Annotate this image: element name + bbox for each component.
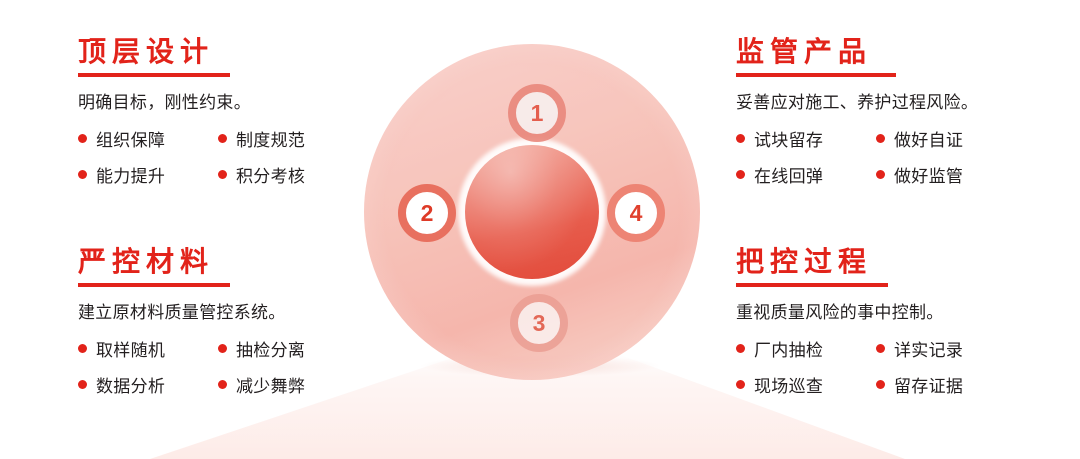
panel-top-right: 监管产品 妥善应对施工、养护过程风险。 试块留存 做好自证 在线回弹 做好监管 [736, 36, 978, 187]
list-item: 数据分析 [78, 372, 218, 397]
bullet-dot-icon [736, 380, 745, 389]
bullet-label: 在线回弹 [754, 162, 823, 187]
bullet-label: 能力提升 [96, 162, 165, 187]
list-item: 厂内抽检 [736, 336, 876, 361]
panel-top-left-underline [78, 73, 230, 77]
panel-bottom-left-bullet-list: 取样随机 抽检分离 数据分析 减少舞弊 [78, 336, 305, 397]
hub-node-4[interactable]: 4 [607, 184, 665, 242]
panel-top-left: 顶层设计 明确目标，刚性约束。 组织保障 制度规范 能力提升 积分考核 [78, 36, 305, 187]
bullet-dot-icon [876, 344, 885, 353]
panel-top-right-underline [736, 73, 896, 77]
panel-bottom-right-bullet-list: 厂内抽检 详实记录 现场巡查 留存证据 [736, 336, 963, 397]
list-item: 留存证据 [876, 372, 963, 397]
list-item: 做好监管 [876, 162, 978, 187]
hub-inner-sphere-gloss [465, 145, 599, 279]
list-item: 组织保障 [78, 126, 218, 151]
bullet-label: 减少舞弊 [236, 372, 305, 397]
list-item: 现场巡查 [736, 372, 876, 397]
bullet-label: 厂内抽检 [754, 336, 823, 361]
hub-node-3[interactable]: 3 [510, 294, 568, 352]
bullet-dot-icon [78, 344, 87, 353]
panel-top-right-bullet-list: 试块留存 做好自证 在线回弹 做好监管 [736, 126, 978, 187]
list-item: 减少舞弊 [218, 372, 305, 397]
center-hub-graphic: 1 2 3 4 [364, 44, 700, 380]
bullet-dot-icon [876, 134, 885, 143]
bullet-label: 做好监管 [894, 162, 963, 187]
panel-bottom-right: 把控过程 重视质量风险的事中控制。 厂内抽检 详实记录 现场巡查 留存证据 [736, 246, 963, 397]
list-item: 能力提升 [78, 162, 218, 187]
bullet-dot-icon [736, 344, 745, 353]
bullet-label: 试块留存 [754, 126, 823, 151]
panel-top-right-description: 妥善应对施工、养护过程风险。 [736, 91, 978, 115]
list-item: 取样随机 [78, 336, 218, 361]
bullet-dot-icon [876, 380, 885, 389]
panel-top-left-title: 顶层设计 [78, 36, 305, 68]
panel-bottom-left-title: 严控材料 [78, 246, 305, 278]
list-item: 在线回弹 [736, 162, 876, 187]
panel-bottom-right-underline [736, 283, 888, 287]
bullet-label: 取样随机 [96, 336, 165, 361]
bullet-dot-icon [736, 170, 745, 179]
hub-node-2-label: 2 [421, 202, 434, 225]
list-item: 详实记录 [876, 336, 963, 361]
panel-top-left-bullet-list: 组织保障 制度规范 能力提升 积分考核 [78, 126, 305, 187]
hub-node-4-label: 4 [630, 202, 643, 225]
list-item: 试块留存 [736, 126, 876, 151]
hub-node-1[interactable]: 1 [508, 84, 566, 142]
bullet-dot-icon [78, 134, 87, 143]
list-item: 抽检分离 [218, 336, 305, 361]
bullet-dot-icon [218, 170, 227, 179]
panel-bottom-left-description: 建立原材料质量管控系统。 [78, 301, 305, 325]
bullet-label: 数据分析 [96, 372, 165, 397]
list-item: 制度规范 [218, 126, 305, 151]
bullet-dot-icon [218, 134, 227, 143]
hub-node-2[interactable]: 2 [398, 184, 456, 242]
hub-node-1-label: 1 [531, 102, 544, 125]
bullet-label: 积分考核 [236, 162, 305, 187]
bullet-dot-icon [736, 134, 745, 143]
bullet-label: 详实记录 [894, 336, 963, 361]
bullet-dot-icon [218, 344, 227, 353]
panel-top-left-description: 明确目标，刚性约束。 [78, 91, 305, 115]
panel-top-right-title: 监管产品 [736, 36, 978, 68]
panel-bottom-right-title: 把控过程 [736, 246, 963, 278]
panel-bottom-left: 严控材料 建立原材料质量管控系统。 取样随机 抽检分离 数据分析 减少舞弊 [78, 246, 305, 397]
bullet-dot-icon [78, 380, 87, 389]
bullet-label: 抽检分离 [236, 336, 305, 361]
panel-bottom-left-underline [78, 283, 230, 287]
hub-node-3-label: 3 [533, 312, 546, 335]
bullet-label: 组织保障 [96, 126, 165, 151]
bullet-dot-icon [218, 380, 227, 389]
list-item: 做好自证 [876, 126, 978, 151]
bullet-label: 留存证据 [894, 372, 963, 397]
bullet-dot-icon [78, 170, 87, 179]
bullet-dot-icon [876, 170, 885, 179]
bullet-label: 制度规范 [236, 126, 305, 151]
bullet-label: 做好自证 [894, 126, 963, 151]
list-item: 积分考核 [218, 162, 305, 187]
bullet-label: 现场巡查 [754, 372, 823, 397]
panel-bottom-right-description: 重视质量风险的事中控制。 [736, 301, 963, 325]
